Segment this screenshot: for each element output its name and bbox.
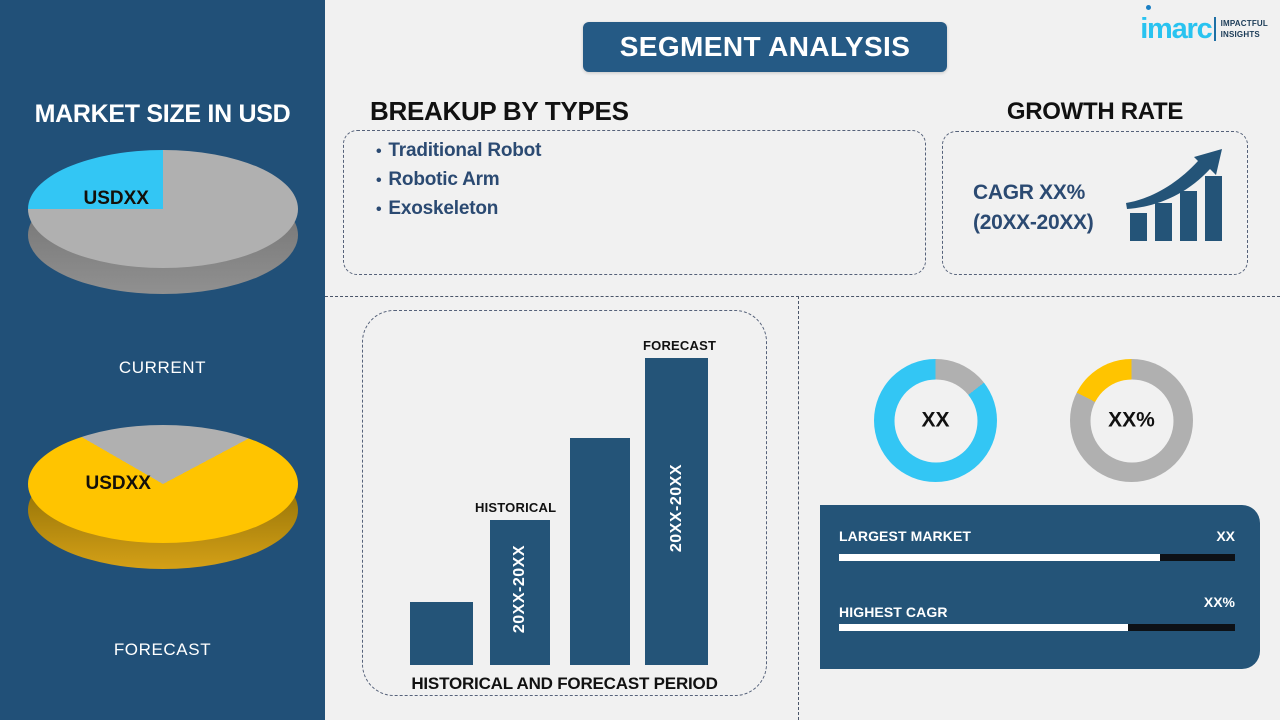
stats-panel: LARGEST MARKET XX HIGHEST CAGR XX% (820, 505, 1260, 669)
breakup-types-list: • Traditional Robot • Robotic Arm • Exos… (376, 140, 541, 227)
current-pie-stage: USDXX (28, 150, 298, 310)
list-item[interactable]: • Exoskeleton (376, 198, 541, 220)
cagr-value: CAGR XX% (973, 178, 1093, 208)
highest-cagr-stat: HIGHEST CAGR XX% (839, 598, 1235, 631)
forecast-pie-caption: FORECAST (0, 640, 325, 660)
highest-cagr-label: HIGHEST CAGR (839, 604, 948, 620)
market-share-donut-label: XX (921, 409, 949, 433)
list-item[interactable]: • Traditional Robot (376, 140, 541, 162)
cagr-donut: XX% (1070, 359, 1193, 482)
infographic-canvas: MARKET SIZE IN USD USDXX CURRENT USDXX F… (0, 0, 1280, 720)
highest-cagr-value: XX% (1204, 594, 1235, 610)
market-size-sidebar: MARKET SIZE IN USD USDXX CURRENT USDXX F… (0, 0, 325, 720)
largest-market-value: XX (1216, 528, 1235, 544)
cagr-period: (20XX-20XX) (973, 208, 1093, 238)
growth-rate-text: CAGR XX% (20XX-20XX) (973, 178, 1093, 238)
logo-dot-icon (1146, 5, 1151, 10)
list-item[interactable]: • Robotic Arm (376, 169, 541, 191)
bar-2-period-label: 20XX-20XX (511, 545, 529, 633)
growth-arrow-chart-icon (1124, 141, 1230, 247)
highest-cagr-progress-track (839, 624, 1235, 631)
page-title-banner: SEGMENT ANALYSIS (583, 22, 947, 72)
forecast-pie-value-label: USDXX (86, 473, 151, 495)
market-share-donut-hole: XX (894, 379, 977, 462)
forecast-pie-chart: USDXX FORECAST (0, 425, 325, 585)
highest-cagr-progress-fill (839, 624, 1128, 631)
bar-4: 20XX-20XX (645, 358, 708, 665)
bullet-icon: • (376, 144, 381, 160)
current-pie-chart: USDXX CURRENT (0, 150, 325, 310)
vertical-divider (798, 296, 799, 720)
period-chart-caption: HISTORICAL AND FORECAST PERIOD (362, 674, 767, 694)
bar-1 (410, 602, 473, 665)
list-item-label: Traditional Robot (388, 140, 541, 162)
cagr-donut-hole: XX% (1090, 379, 1173, 462)
largest-market-row: LARGEST MARKET XX (839, 528, 1235, 550)
current-pie-surface (28, 150, 298, 268)
bar-3 (570, 438, 630, 665)
bullet-icon: • (376, 173, 381, 189)
bar-4-top-label: FORECAST (643, 338, 716, 353)
page-title: SEGMENT ANALYSIS (620, 31, 911, 63)
growth-rate-heading: GROWTH RATE (942, 98, 1248, 126)
forecast-pie-stage: USDXX (28, 425, 298, 585)
logo-divider (1214, 17, 1216, 41)
list-item-label: Exoskeleton (388, 198, 498, 220)
bar-2: 20XX-20XX (490, 520, 550, 665)
breakup-section-heading: BREAKUP BY TYPES (370, 96, 629, 127)
logo-tagline-line2: INSIGHTS (1221, 30, 1260, 39)
largest-market-stat: LARGEST MARKET XX (839, 528, 1235, 561)
cagr-donut-label: XX% (1108, 409, 1155, 433)
current-pie-value-label: USDXX (84, 188, 149, 210)
bar-4-period-label: 20XX-20XX (668, 464, 686, 552)
bar-2-top-label: HISTORICAL (475, 500, 556, 515)
highest-cagr-row: HIGHEST CAGR XX% (839, 598, 1235, 620)
forecast-pie-surface (28, 425, 298, 543)
largest-market-progress-track (839, 554, 1235, 561)
logo-tagline-line1: IMPACTFUL (1221, 19, 1268, 28)
market-share-donut: XX (874, 359, 997, 482)
horizontal-divider (325, 296, 1280, 297)
list-item-label: Robotic Arm (388, 169, 499, 191)
imarc-logo: imarc IMPACTFUL INSIGHTS (1140, 12, 1268, 46)
largest-market-progress-fill (839, 554, 1160, 561)
sidebar-title: MARKET SIZE IN USD (0, 100, 325, 129)
bullet-icon: • (376, 202, 381, 218)
logo-tagline: IMPACTFUL INSIGHTS (1221, 18, 1268, 40)
largest-market-label: LARGEST MARKET (839, 528, 971, 544)
historical-forecast-bar-chart: HISTORICAL 20XX-20XX FORECAST 20XX-20XX … (362, 310, 767, 696)
current-pie-caption: CURRENT (0, 358, 325, 378)
logo-wordmark: imarc (1140, 15, 1211, 44)
